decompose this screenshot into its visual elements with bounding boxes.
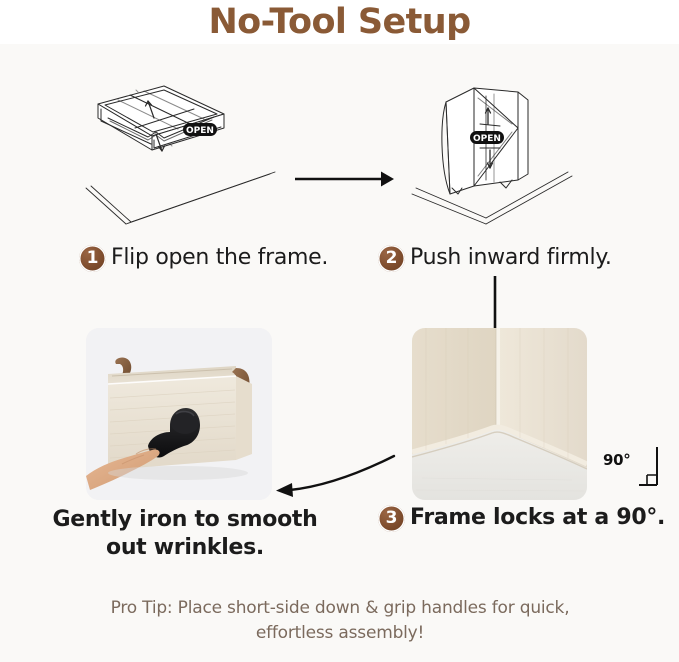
angle-label: 90° bbox=[603, 451, 630, 469]
corner-photo bbox=[412, 328, 587, 500]
step3-badge: 3 bbox=[378, 505, 405, 532]
pro-tip-line1: Pro Tip: Place short-side down & grip ha… bbox=[55, 596, 625, 621]
iron-caption-line1: Gently iron to smooth bbox=[30, 506, 340, 534]
step1-caption-row: 1 Flip open the frame. bbox=[79, 245, 328, 272]
svg-text:OPEN: OPEN bbox=[186, 126, 214, 136]
pro-tip-line2: effortless assembly! bbox=[55, 621, 625, 646]
step2-caption: Push inward firmly. bbox=[410, 246, 612, 270]
step1-badge: 1 bbox=[79, 245, 106, 272]
arrow-step3-to-iron bbox=[270, 452, 400, 504]
iron-photo bbox=[86, 328, 272, 500]
infographic-page: No-Tool Setup bbox=[0, 0, 679, 662]
step3-caption-row: 3 Frame locks at a 90°. bbox=[378, 505, 665, 532]
step2-badge: 2 bbox=[378, 245, 405, 272]
step3-caption: Frame locks at a 90°. bbox=[410, 506, 665, 530]
open-tag-step1: OPEN bbox=[183, 123, 217, 136]
pro-tip: Pro Tip: Place short-side down & grip ha… bbox=[55, 596, 625, 645]
iron-caption-line2: out wrinkles. bbox=[30, 534, 340, 562]
page-title: No-Tool Setup bbox=[208, 5, 470, 40]
step1-illustration: OPEN bbox=[78, 76, 298, 226]
iron-caption: Gently iron to smooth out wrinkles. bbox=[30, 506, 340, 561]
angle-marker: 90° bbox=[603, 447, 659, 492]
step1-caption: Flip open the frame. bbox=[111, 246, 328, 270]
step2-caption-row: 2 Push inward firmly. bbox=[378, 245, 612, 272]
open-tag-step2: OPEN bbox=[470, 131, 504, 144]
title-bar: No-Tool Setup bbox=[0, 0, 679, 44]
svg-text:OPEN: OPEN bbox=[473, 134, 501, 144]
arrow-step2-to-step3 bbox=[488, 276, 502, 330]
step2-illustration: OPEN bbox=[400, 76, 600, 226]
arrow-step1-to-step2 bbox=[295, 168, 395, 190]
